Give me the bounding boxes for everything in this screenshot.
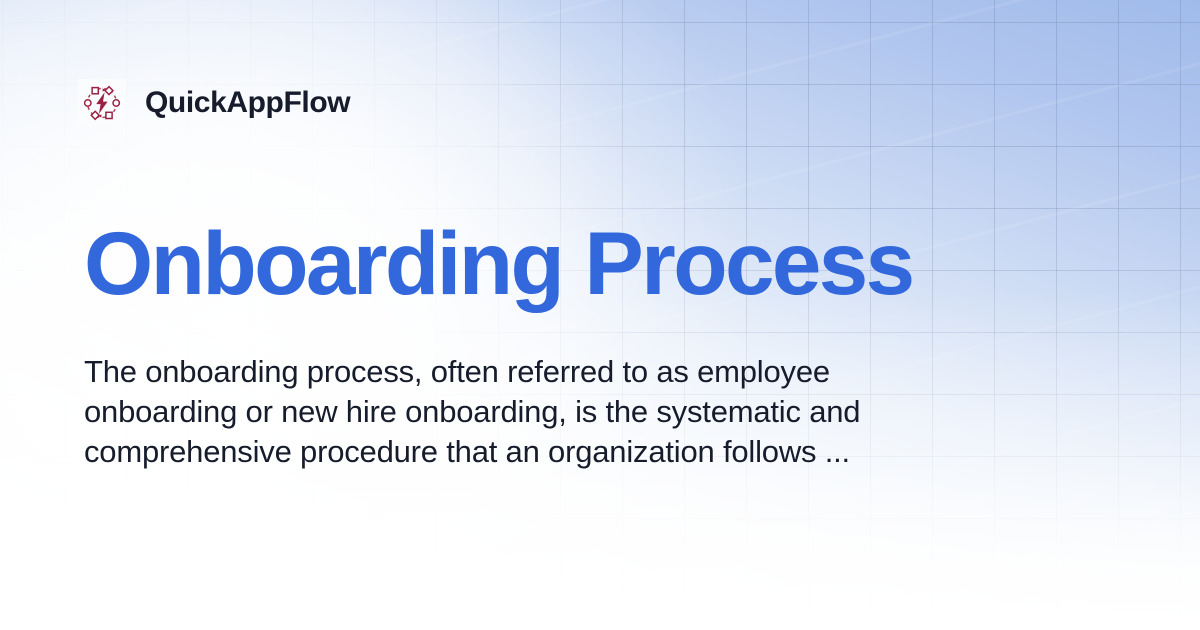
brand-name: QuickAppFlow <box>145 88 350 118</box>
card-content: QuickAppFlow Onboarding Process The onbo… <box>0 0 1200 630</box>
page-description: The onboarding process, often referred t… <box>84 352 884 472</box>
page-title: Onboarding Process <box>84 217 913 310</box>
brand-lockup: QuickAppFlow <box>78 79 350 127</box>
workflow-lightning-icon <box>78 79 126 127</box>
og-card: QuickAppFlow Onboarding Process The onbo… <box>0 0 1200 630</box>
